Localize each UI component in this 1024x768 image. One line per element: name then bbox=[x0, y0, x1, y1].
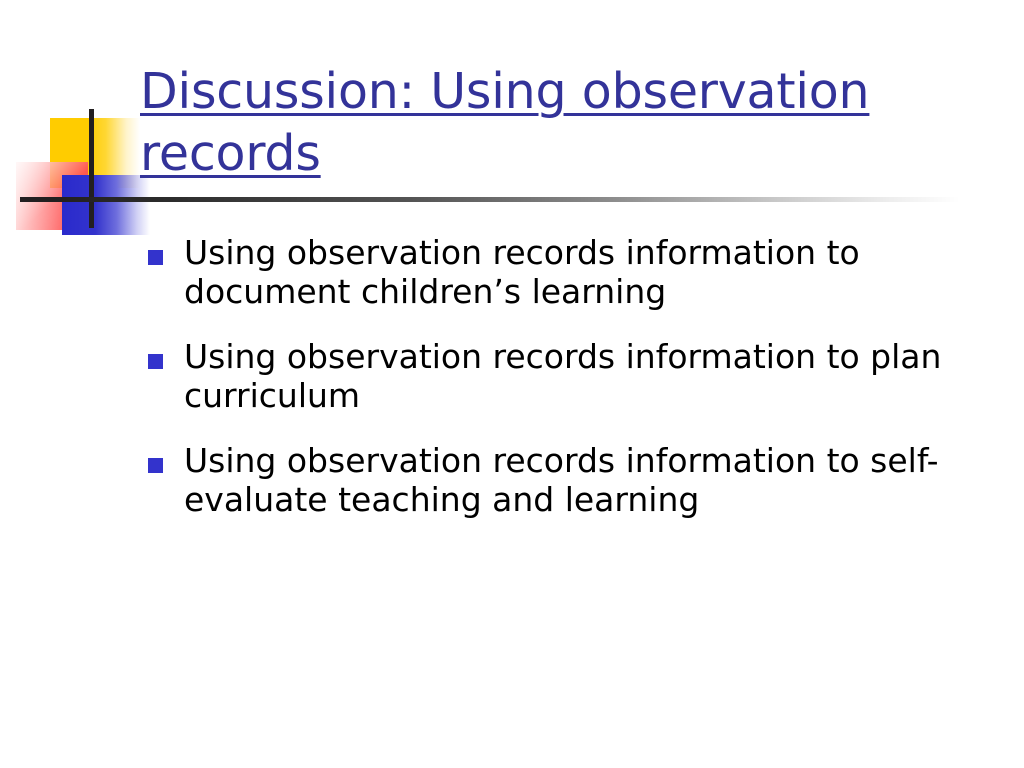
list-item-label: Using observation records information to… bbox=[184, 234, 984, 312]
square-bullet-icon bbox=[148, 458, 163, 473]
horizontal-rule bbox=[52, 197, 960, 202]
page-title-line-2-text: records bbox=[140, 125, 321, 182]
list-item: Using observation records information to… bbox=[144, 234, 984, 312]
vertical-line-icon bbox=[89, 109, 94, 228]
page-title-line-1: Discussion: Using observation bbox=[140, 61, 980, 123]
list-item-label: Using observation records information to… bbox=[184, 338, 984, 416]
list-item: Using observation records information to… bbox=[144, 338, 984, 416]
list-item: Using observation records information to… bbox=[144, 442, 984, 520]
page-title-line-1-text: Discussion: Using observation bbox=[140, 63, 869, 120]
list-item-label: Using observation records information to… bbox=[184, 442, 984, 520]
slide: Discussion: Using observation records Us… bbox=[0, 0, 1024, 768]
bullet-list: Using observation records information to… bbox=[144, 234, 984, 520]
square-bullet-icon bbox=[148, 250, 163, 265]
page-title: Discussion: Using observation records bbox=[140, 61, 980, 185]
square-bullet-icon bbox=[148, 354, 163, 369]
page-title-line-2: records bbox=[140, 123, 980, 185]
blue-square-icon bbox=[62, 175, 150, 235]
